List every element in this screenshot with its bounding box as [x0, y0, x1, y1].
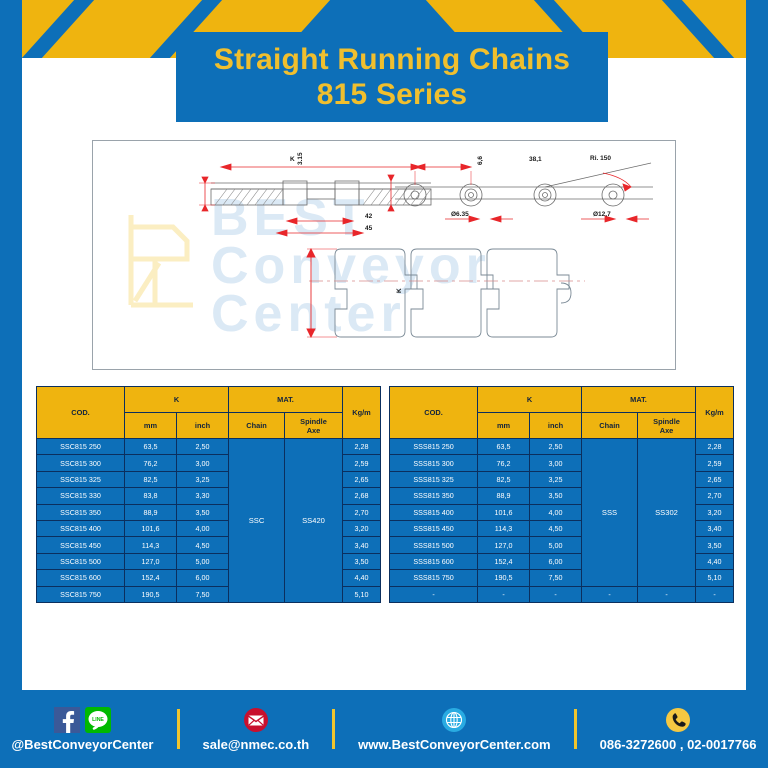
- th-inch: inch: [177, 413, 229, 439]
- cell-cod: SSS815 400: [390, 504, 478, 520]
- cell-inch: -: [530, 586, 582, 602]
- cell-inch: 3,00: [177, 455, 229, 471]
- cell-kgm: 2,65: [696, 471, 734, 487]
- technical-drawing-panel: BEST Conveyor Center: [92, 140, 676, 370]
- cell-mm: 152,4: [478, 553, 530, 569]
- cell-cod: SSC815 300: [37, 455, 125, 471]
- email-icon[interactable]: [243, 707, 269, 733]
- line-icon[interactable]: LINE: [85, 707, 111, 733]
- th-spindle-axe: Spindle Axe: [285, 413, 343, 439]
- phone-label: 086-3272600 , 02-0017766: [600, 737, 757, 752]
- cell-spindle-axe: -: [638, 586, 696, 602]
- cell-kgm: 5,10: [343, 586, 381, 602]
- cell-cod: SSS815 350: [390, 488, 478, 504]
- cell-cod: -: [390, 586, 478, 602]
- page-title: Straight Running Chains 815 Series: [176, 32, 608, 122]
- cell-inch: 4,00: [177, 520, 229, 536]
- cell-mm: 114,3: [478, 520, 530, 536]
- cell-inch: 3,25: [177, 471, 229, 487]
- cell-kgm: 3,40: [696, 520, 734, 536]
- cell-kgm: 3,20: [696, 504, 734, 520]
- cell-cod: SSS815 325: [390, 471, 478, 487]
- cell-inch: 3,50: [177, 504, 229, 520]
- th-k: K: [478, 387, 582, 413]
- dim-radius: Ri. 150: [590, 155, 611, 162]
- th-chain: Chain: [229, 413, 285, 439]
- dim-k-vertical: K: [396, 288, 403, 293]
- cell-chain: SSS: [582, 439, 638, 587]
- cell-mm: 82,5: [478, 471, 530, 487]
- title-line-2: 815 Series: [317, 77, 467, 112]
- cell-kgm: 5,10: [696, 570, 734, 586]
- cell-cod: SSC815 500: [37, 553, 125, 569]
- th-k: K: [125, 387, 229, 413]
- cell-kgm: 3,50: [343, 553, 381, 569]
- cell-mm: 190,5: [478, 570, 530, 586]
- footer-social[interactable]: LINE @BestConveyorCenter: [12, 707, 154, 752]
- cell-cod: SSS815 450: [390, 520, 478, 536]
- cell-chain: -: [582, 586, 638, 602]
- cell-kgm: -: [696, 586, 734, 602]
- dim-45: 45: [365, 225, 372, 232]
- cell-inch: 7,50: [177, 586, 229, 602]
- footer-website[interactable]: www.BestConveyorCenter.com: [358, 707, 550, 752]
- chain-side-view-drawing: [385, 147, 665, 237]
- cell-mm: 88,9: [478, 488, 530, 504]
- sss-spec-table: COD. K MAT. Kg/m mm inch Chain Spindle A…: [389, 386, 734, 603]
- cell-kgm: 2,59: [343, 455, 381, 471]
- th-mm: mm: [478, 413, 530, 439]
- cell-inch: 2,50: [530, 439, 582, 455]
- cell-inch: 4,50: [530, 520, 582, 536]
- cell-inch: 4,50: [177, 537, 229, 553]
- cell-inch: 6,00: [530, 553, 582, 569]
- cell-mm: 114,3: [125, 537, 177, 553]
- table-row: SSS815 250 63,5 2,50 SSS SS302 2,28: [390, 439, 734, 455]
- title-line-1: Straight Running Chains: [214, 42, 570, 77]
- cell-kgm: 3,50: [696, 537, 734, 553]
- th-kgm: Kg/m: [343, 387, 381, 439]
- right-border: [746, 0, 768, 768]
- cell-inch: 5,00: [530, 537, 582, 553]
- cell-mm: 101,6: [125, 520, 177, 536]
- footer-contact-bar: LINE @BestConveyorCenter sale@nmec.co.th: [0, 690, 768, 768]
- footer-phone[interactable]: 086-3272600 , 02-0017766: [600, 707, 757, 752]
- ssc-spec-table: COD. K MAT. Kg/m mm inch Chain Spindle A…: [36, 386, 381, 603]
- footer-divider: [574, 709, 577, 749]
- cell-mm: 63,5: [478, 439, 530, 455]
- cell-kgm: 4,40: [343, 570, 381, 586]
- left-border: [0, 0, 22, 768]
- cell-inch: 3,00: [530, 455, 582, 471]
- th-cod: COD.: [390, 387, 478, 439]
- cell-inch: 7,50: [530, 570, 582, 586]
- dim-pitch: 38,1: [529, 156, 542, 163]
- website-label: www.BestConveyorCenter.com: [358, 737, 550, 752]
- th-spindle: Spindle: [653, 417, 680, 426]
- footer-divider: [332, 709, 335, 749]
- cell-mm: 101,6: [478, 504, 530, 520]
- cell-cod: SSC815 600: [37, 570, 125, 586]
- dim-hole-large: Ø12,7: [593, 211, 611, 218]
- cell-kgm: 2,65: [343, 471, 381, 487]
- cell-spindle-axe: SS302: [638, 439, 696, 587]
- cell-mm: 76,2: [125, 455, 177, 471]
- cell-cod: SSS815 500: [390, 537, 478, 553]
- cell-kgm: 2,28: [343, 439, 381, 455]
- cell-mm: 83,8: [125, 488, 177, 504]
- cell-cod: SSC815 330: [37, 488, 125, 504]
- cell-inch: 3,50: [530, 488, 582, 504]
- cell-cod: SSC815 350: [37, 504, 125, 520]
- facebook-icon[interactable]: [54, 707, 80, 733]
- cell-spindle-axe: SS420: [285, 439, 343, 603]
- cell-kgm: 2,70: [343, 504, 381, 520]
- cell-cod: SSS815 600: [390, 553, 478, 569]
- th-mm: mm: [125, 413, 177, 439]
- cell-kgm: 2,68: [343, 488, 381, 504]
- cell-cod: SSC815 325: [37, 471, 125, 487]
- cell-mm: -: [478, 586, 530, 602]
- cell-chain: SSC: [229, 439, 285, 603]
- cell-cod: SSS815 750: [390, 570, 478, 586]
- cell-cod: SSC815 450: [37, 537, 125, 553]
- cell-inch: 5,00: [177, 553, 229, 569]
- line-badge-label: LINE: [92, 717, 104, 723]
- cell-kgm: 4,40: [696, 553, 734, 569]
- th-axe: Axe: [660, 426, 674, 435]
- th-mat: MAT.: [582, 387, 696, 413]
- cell-cod: SSS815 300: [390, 455, 478, 471]
- cell-mm: 82,5: [125, 471, 177, 487]
- th-kgm: Kg/m: [696, 387, 734, 439]
- th-inch: inch: [530, 413, 582, 439]
- cell-kgm: 2,70: [696, 488, 734, 504]
- poster-page: Straight Running Chains 815 Series BEST …: [0, 0, 768, 768]
- cell-kgm: 2,59: [696, 455, 734, 471]
- cell-inch: 3,25: [530, 471, 582, 487]
- th-chain: Chain: [582, 413, 638, 439]
- cell-kgm: 3,20: [343, 520, 381, 536]
- phone-icon[interactable]: [665, 707, 691, 733]
- cell-cod: SSC815 400: [37, 520, 125, 536]
- email-label: sale@nmec.co.th: [203, 737, 310, 752]
- cell-cod: SSC815 250: [37, 439, 125, 455]
- th-spindle-axe: Spindle Axe: [638, 413, 696, 439]
- cell-inch: 2,50: [177, 439, 229, 455]
- cell-mm: 88,9: [125, 504, 177, 520]
- cell-kgm: 3,40: [343, 537, 381, 553]
- th-mat: MAT.: [229, 387, 343, 413]
- dim-k-top: K: [290, 156, 295, 163]
- dim-42: 42: [365, 213, 372, 220]
- cell-mm: 152,4: [125, 570, 177, 586]
- cell-mm: 76,2: [478, 455, 530, 471]
- social-handle-label: @BestConveyorCenter: [12, 737, 154, 752]
- specification-tables: COD. K MAT. Kg/m mm inch Chain Spindle A…: [36, 386, 732, 603]
- footer-email[interactable]: sale@nmec.co.th: [203, 707, 310, 752]
- cell-mm: 190,5: [125, 586, 177, 602]
- plan-view-drawing: [289, 235, 599, 361]
- dim-thickness: 3.15: [297, 152, 304, 165]
- cell-inch: 3,30: [177, 488, 229, 504]
- dim-side-height: 6,6: [477, 156, 484, 165]
- cell-mm: 63,5: [125, 439, 177, 455]
- cell-inch: 6,00: [177, 570, 229, 586]
- cell-mm: 127,0: [478, 537, 530, 553]
- cell-inch: 4,00: [530, 504, 582, 520]
- th-spindle: Spindle: [300, 417, 327, 426]
- table-row: - - - - - -: [390, 586, 734, 602]
- table-row: SSC815 250 63,5 2,50 SSC SS420 2,28: [37, 439, 381, 455]
- cell-kgm: 2,28: [696, 439, 734, 455]
- th-cod: COD.: [37, 387, 125, 439]
- cell-cod: SSS815 250: [390, 439, 478, 455]
- cell-cod: SSC815 750: [37, 586, 125, 602]
- footer-divider: [177, 709, 180, 749]
- th-axe: Axe: [307, 426, 321, 435]
- cell-mm: 127,0: [125, 553, 177, 569]
- dim-hole-small: Ø6.35: [451, 211, 469, 218]
- globe-icon[interactable]: [441, 707, 467, 733]
